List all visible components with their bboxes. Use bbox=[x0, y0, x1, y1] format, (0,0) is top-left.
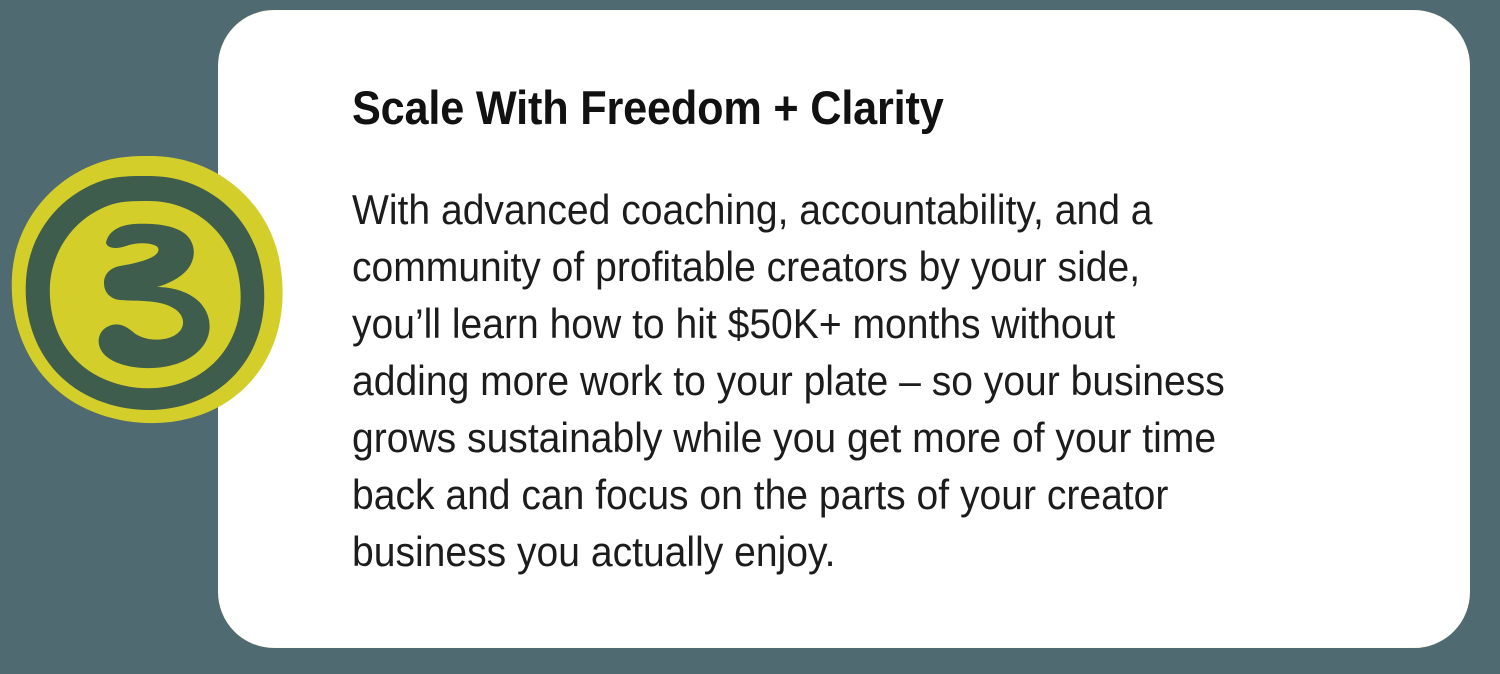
body-line: community of profitable creators by your… bbox=[352, 238, 1338, 295]
step-number-badge bbox=[8, 154, 286, 426]
body-line: grows sustainably while you get more of … bbox=[352, 409, 1338, 466]
benefit-card-slide: Scale With Freedom + Clarity With advanc… bbox=[0, 0, 1500, 674]
body-line: adding more work to your plate – so your… bbox=[352, 352, 1338, 409]
card-heading: Scale With Freedom + Clarity bbox=[352, 82, 1327, 135]
body-line: business you actually enjoy. bbox=[352, 523, 1338, 580]
numbered-circle-badge-icon bbox=[8, 154, 286, 426]
body-line: With advanced coaching, accountability, … bbox=[352, 181, 1338, 238]
body-line: you’ll learn how to hit $50K+ months wit… bbox=[352, 295, 1338, 352]
card-body-text: With advanced coaching, accountability, … bbox=[352, 181, 1338, 580]
card-text-column: Scale With Freedom + Clarity With advanc… bbox=[352, 10, 1412, 648]
body-line: back and can focus on the parts of your … bbox=[352, 466, 1338, 523]
